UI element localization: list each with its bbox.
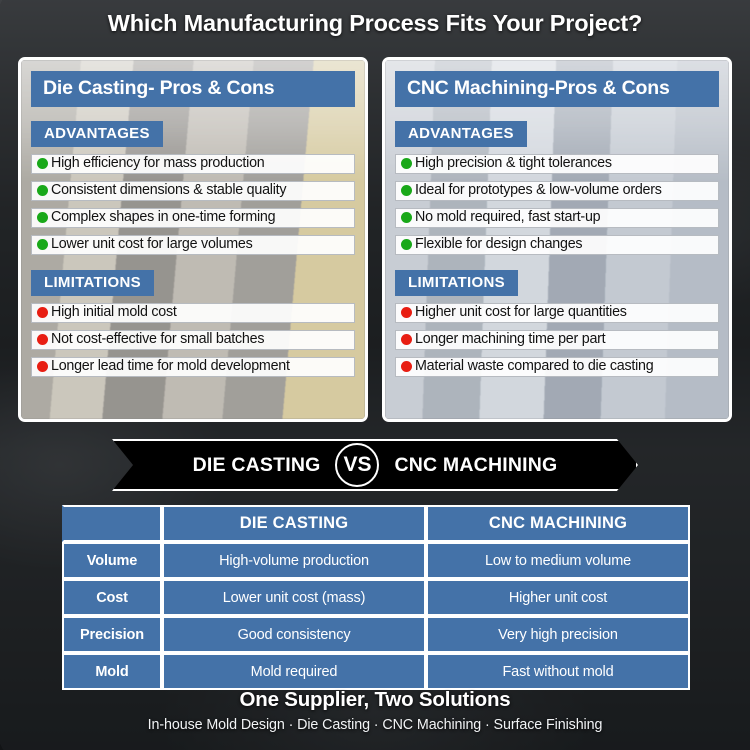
panel-title-die-casting: Die Casting- Pros & Cons <box>31 71 355 107</box>
con-bullet-icon <box>401 307 412 318</box>
list-item: Flexible for design changes <box>395 235 719 255</box>
pro-bullet-icon <box>37 212 48 223</box>
advantages-list-cnc-machining: High precision & tight tolerances Ideal … <box>395 154 719 255</box>
table-row: Cost Lower unit cost (mass) Higher unit … <box>62 579 690 616</box>
table-header-die-casting: DIE CASTING <box>162 505 426 542</box>
advantages-tag-die-casting: ADVANTAGES <box>31 121 163 147</box>
list-item-text: Lower unit cost for large volumes <box>51 236 253 253</box>
list-item-text: Flexible for design changes <box>415 236 582 253</box>
list-item-text: Higher unit cost for large quantities <box>415 304 627 321</box>
advantages-list-die-casting: High efficiency for mass production Cons… <box>31 154 355 255</box>
footer-services: In-house Mold Design · Die Casting · CNC… <box>0 717 750 733</box>
list-item-text: Ideal for prototypes & low-volume orders <box>415 182 662 199</box>
versus-badge: VS <box>335 443 379 487</box>
comparison-table: DIE CASTING CNC MACHINING Volume High-vo… <box>62 505 690 690</box>
infographic-page: Which Manufacturing Process Fits Your Pr… <box>0 0 750 750</box>
table-row-label: Cost <box>62 579 162 616</box>
list-item-text: Complex shapes in one-time forming <box>51 209 275 226</box>
con-bullet-icon <box>37 307 48 318</box>
table-header-blank <box>62 505 162 542</box>
table-cell-cnc-machining: Very high precision <box>426 616 690 653</box>
list-item-text: Material waste compared to die casting <box>415 358 653 375</box>
pro-bullet-icon <box>401 158 412 169</box>
list-item-text: Longer machining time per part <box>415 331 605 348</box>
list-item-text: Longer lead time for mold development <box>51 358 290 375</box>
list-item: Consistent dimensions & stable quality <box>31 181 355 201</box>
list-item-text: High initial mold cost <box>51 304 177 321</box>
limitations-list-cnc-machining: Higher unit cost for large quantities Lo… <box>395 303 719 377</box>
footer: One Supplier, Two Solutions In-house Mol… <box>0 688 750 733</box>
table-row: Volume High-volume production Low to med… <box>62 542 690 579</box>
list-item: Not cost-effective for small batches <box>31 330 355 350</box>
table-cell-cnc-machining: Low to medium volume <box>426 542 690 579</box>
panel-cnc-machining: CNC Machining-Pros & Cons ADVANTAGES Hig… <box>382 57 732 422</box>
versus-left-label: DIE CASTING <box>193 454 321 477</box>
table-cell-die-casting: Lower unit cost (mass) <box>162 579 426 616</box>
table-cell-cnc-machining: Fast without mold <box>426 653 690 690</box>
table-cell-die-casting: Good consistency <box>162 616 426 653</box>
con-bullet-icon <box>37 361 48 372</box>
limitations-list-die-casting: High initial mold cost Not cost-effectiv… <box>31 303 355 377</box>
comparison-panels: Die Casting- Pros & Cons ADVANTAGES High… <box>18 57 732 422</box>
table-cell-cnc-machining: Higher unit cost <box>426 579 690 616</box>
list-item: Longer machining time per part <box>395 330 719 350</box>
comparison-table-body: Volume High-volume production Low to med… <box>62 542 690 690</box>
table-header-cnc-machining: CNC MACHINING <box>426 505 690 542</box>
table-row: Precision Good consistency Very high pre… <box>62 616 690 653</box>
con-bullet-icon <box>401 361 412 372</box>
list-item-text: High precision & tight tolerances <box>415 155 612 172</box>
pro-bullet-icon <box>401 185 412 196</box>
list-item-text: Not cost-effective for small batches <box>51 331 264 348</box>
pro-bullet-icon <box>37 239 48 250</box>
list-item: Complex shapes in one-time forming <box>31 208 355 228</box>
page-title: Which Manufacturing Process Fits Your Pr… <box>0 0 750 46</box>
pro-bullet-icon <box>401 212 412 223</box>
list-item: Ideal for prototypes & low-volume orders <box>395 181 719 201</box>
panel-body-cnc-machining: CNC Machining-Pros & Cons ADVANTAGES Hig… <box>385 60 729 419</box>
list-item: High initial mold cost <box>31 303 355 323</box>
table-header-row: DIE CASTING CNC MACHINING <box>62 505 690 542</box>
con-bullet-icon <box>37 334 48 345</box>
list-item: Material waste compared to die casting <box>395 357 719 377</box>
list-item: Longer lead time for mold development <box>31 357 355 377</box>
table-cell-die-casting: Mold required <box>162 653 426 690</box>
pro-bullet-icon <box>37 158 48 169</box>
table-row-label: Volume <box>62 542 162 579</box>
versus-banner: DIE CASTING VS CNC MACHINING <box>112 439 638 491</box>
table-cell-die-casting: High-volume production <box>162 542 426 579</box>
footer-headline: One Supplier, Two Solutions <box>0 688 750 712</box>
list-item-text: High efficiency for mass production <box>51 155 265 172</box>
list-item: Higher unit cost for large quantities <box>395 303 719 323</box>
list-item: High precision & tight tolerances <box>395 154 719 174</box>
advantages-tag-cnc-machining: ADVANTAGES <box>395 121 527 147</box>
list-item-text: No mold required, fast start-up <box>415 209 600 226</box>
panel-title-cnc-machining: CNC Machining-Pros & Cons <box>395 71 719 107</box>
con-bullet-icon <box>401 334 412 345</box>
comparison-table-head: DIE CASTING CNC MACHINING <box>62 505 690 542</box>
versus-right-label: CNC MACHINING <box>394 454 557 477</box>
table-row: Mold Mold required Fast without mold <box>62 653 690 690</box>
list-item: High efficiency for mass production <box>31 154 355 174</box>
list-item: Lower unit cost for large volumes <box>31 235 355 255</box>
table-row-label: Mold <box>62 653 162 690</box>
panel-body-die-casting: Die Casting- Pros & Cons ADVANTAGES High… <box>21 60 365 419</box>
pro-bullet-icon <box>37 185 48 196</box>
page-title-text: Which Manufacturing Process Fits Your Pr… <box>108 10 642 37</box>
versus-banner-content: DIE CASTING VS CNC MACHINING <box>112 439 638 491</box>
table-row-label: Precision <box>62 616 162 653</box>
list-item-text: Consistent dimensions & stable quality <box>51 182 286 199</box>
limitations-tag-cnc-machining: LIMITATIONS <box>395 270 518 296</box>
pro-bullet-icon <box>401 239 412 250</box>
list-item: No mold required, fast start-up <box>395 208 719 228</box>
panel-die-casting: Die Casting- Pros & Cons ADVANTAGES High… <box>18 57 368 422</box>
limitations-tag-die-casting: LIMITATIONS <box>31 270 154 296</box>
